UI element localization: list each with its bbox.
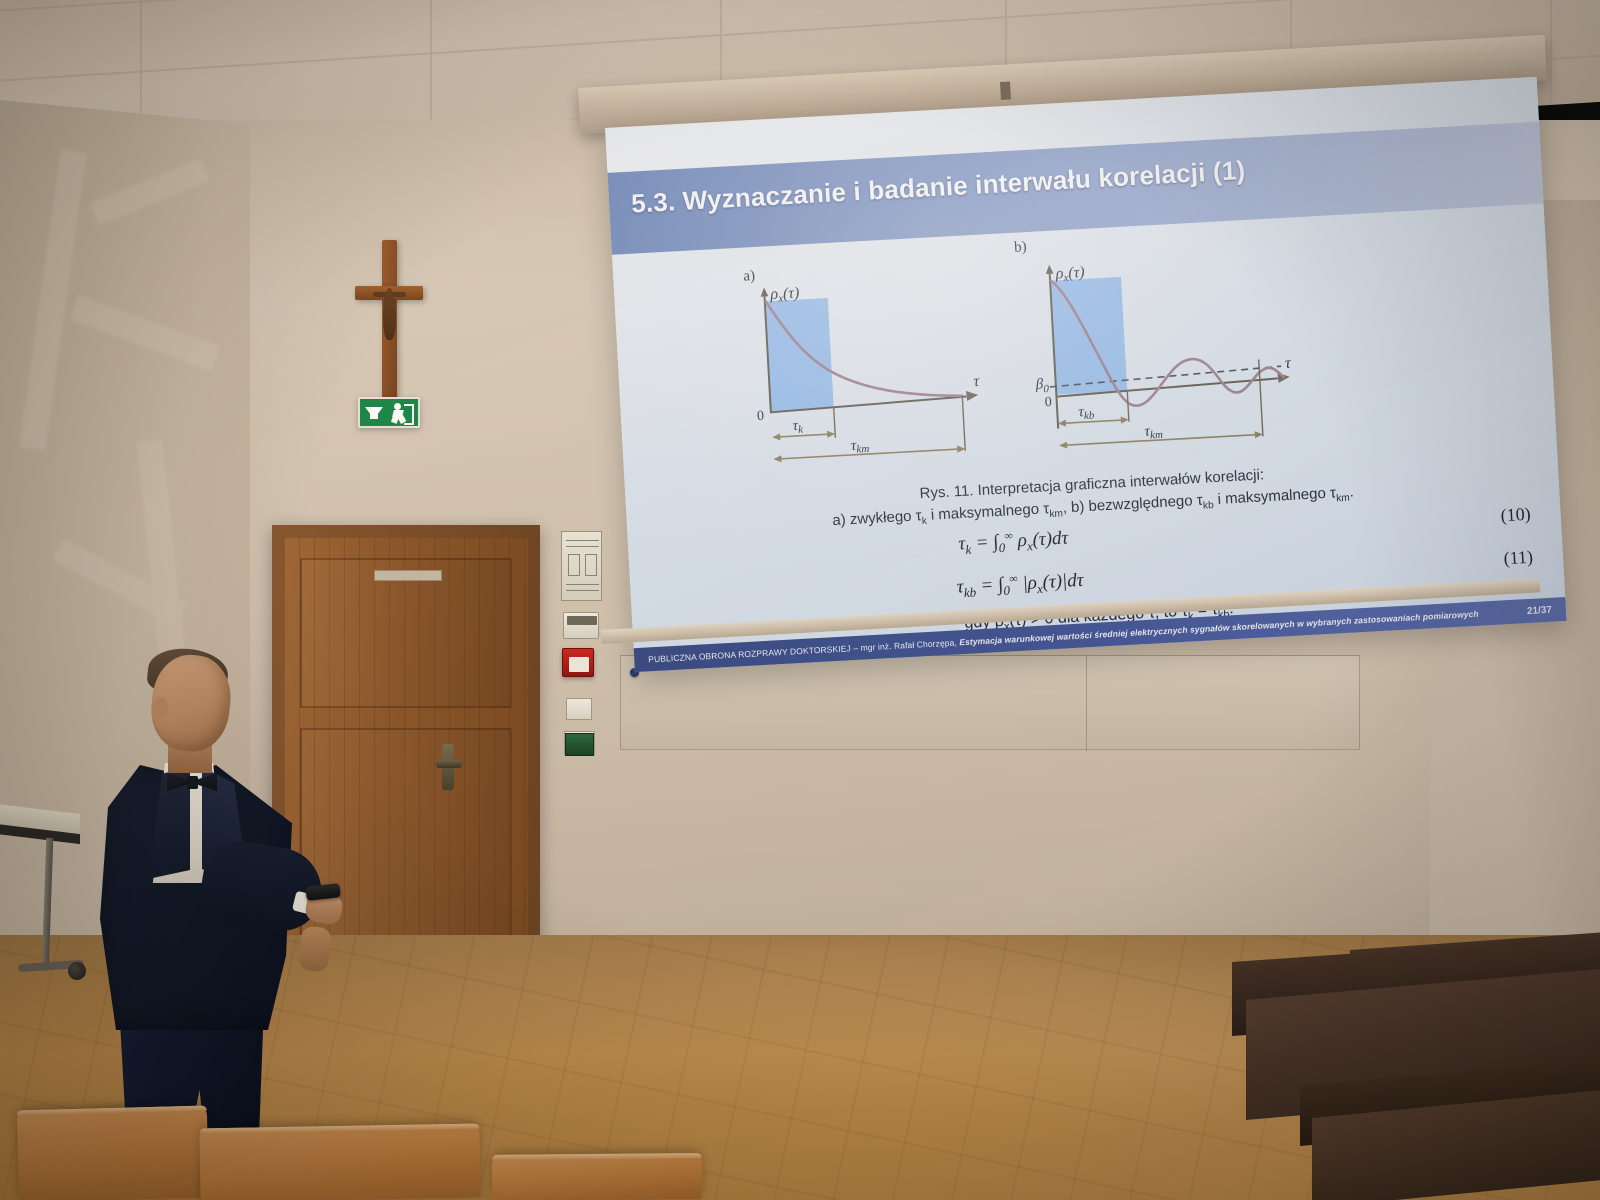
panel-a-y-arrowhead <box>760 287 768 296</box>
audience-chair-2[interactable] <box>199 1124 480 1200</box>
door-handle[interactable] <box>436 760 462 768</box>
door-room-sign <box>374 570 442 581</box>
chair-backrest-edge <box>492 1153 702 1160</box>
whiteboard <box>620 655 1360 750</box>
wall-thermostat[interactable] <box>563 612 599 639</box>
audience-chair-3[interactable] <box>492 1153 702 1200</box>
audience-chair-1[interactable] <box>17 1106 209 1200</box>
equation-11-number: (11) <box>1503 547 1533 570</box>
panel-a-xlabel: τ <box>973 373 981 390</box>
panel-a-taukm-label: τkm <box>850 437 869 456</box>
slide-page-number: 21/37 <box>1527 604 1553 616</box>
crucifix <box>355 240 423 415</box>
panel-b-taukb-dropline <box>1127 391 1129 422</box>
door-lower-panel <box>300 728 512 968</box>
projection-screen: 5.3. Wyznaczanie i badanie interwału kor… <box>605 77 1567 672</box>
evacuation-plan-placard <box>561 531 602 601</box>
chart-panel-a: ρx(τ) τ 0 τk τkm <box>732 266 1013 486</box>
presenter-left-hand <box>298 926 332 973</box>
down-arrow-icon <box>365 407 383 419</box>
panel-b-y-arrowhead <box>1045 265 1053 274</box>
av-control-panel[interactable] <box>565 733 594 756</box>
lecture-hall-photo: 5.3. Wyznaczanie i badanie interwału kor… <box>0 0 1600 1200</box>
panel-a-taukm-dropline <box>962 396 965 451</box>
presenter-ear <box>154 697 168 717</box>
equation-10-number: (10) <box>1500 504 1531 527</box>
panel-b-xlabel: τ <box>1285 355 1293 372</box>
panel-a-x-arrowhead <box>966 390 979 401</box>
emergency-exit-sign <box>358 397 420 428</box>
chart-panel-b: ρx(τ) τ β0 0 τkb τkm <box>1013 239 1324 470</box>
exit-door-icon <box>404 404 414 425</box>
presenter-speaker <box>62 645 302 1145</box>
panel-b-beta0-label: β0 <box>1034 376 1050 396</box>
panel-a-tauk-label: τk <box>792 418 804 437</box>
screen-housing-bracket <box>1000 81 1011 100</box>
whiteboard-seam <box>1086 656 1087 751</box>
fire-alarm-call-point[interactable] <box>562 648 594 677</box>
panel-b-origin-label: 0 <box>1044 395 1052 410</box>
panel-a-origin-label: 0 <box>757 409 765 424</box>
panel-b-taukm-label: τkm <box>1144 423 1163 442</box>
panel-b-label: b) <box>1014 239 1027 257</box>
panel-b-taukb-label: τkb <box>1078 404 1095 423</box>
crucifix-figure <box>383 288 396 340</box>
presenter-bow-tie <box>167 771 217 793</box>
panel-a-tauk-arrow <box>774 434 833 437</box>
thermostat-display <box>567 616 597 625</box>
fire-alarm-window <box>569 657 589 672</box>
light-switch-upper[interactable] <box>566 698 592 720</box>
panel-a-tauk-dropline <box>834 408 836 438</box>
